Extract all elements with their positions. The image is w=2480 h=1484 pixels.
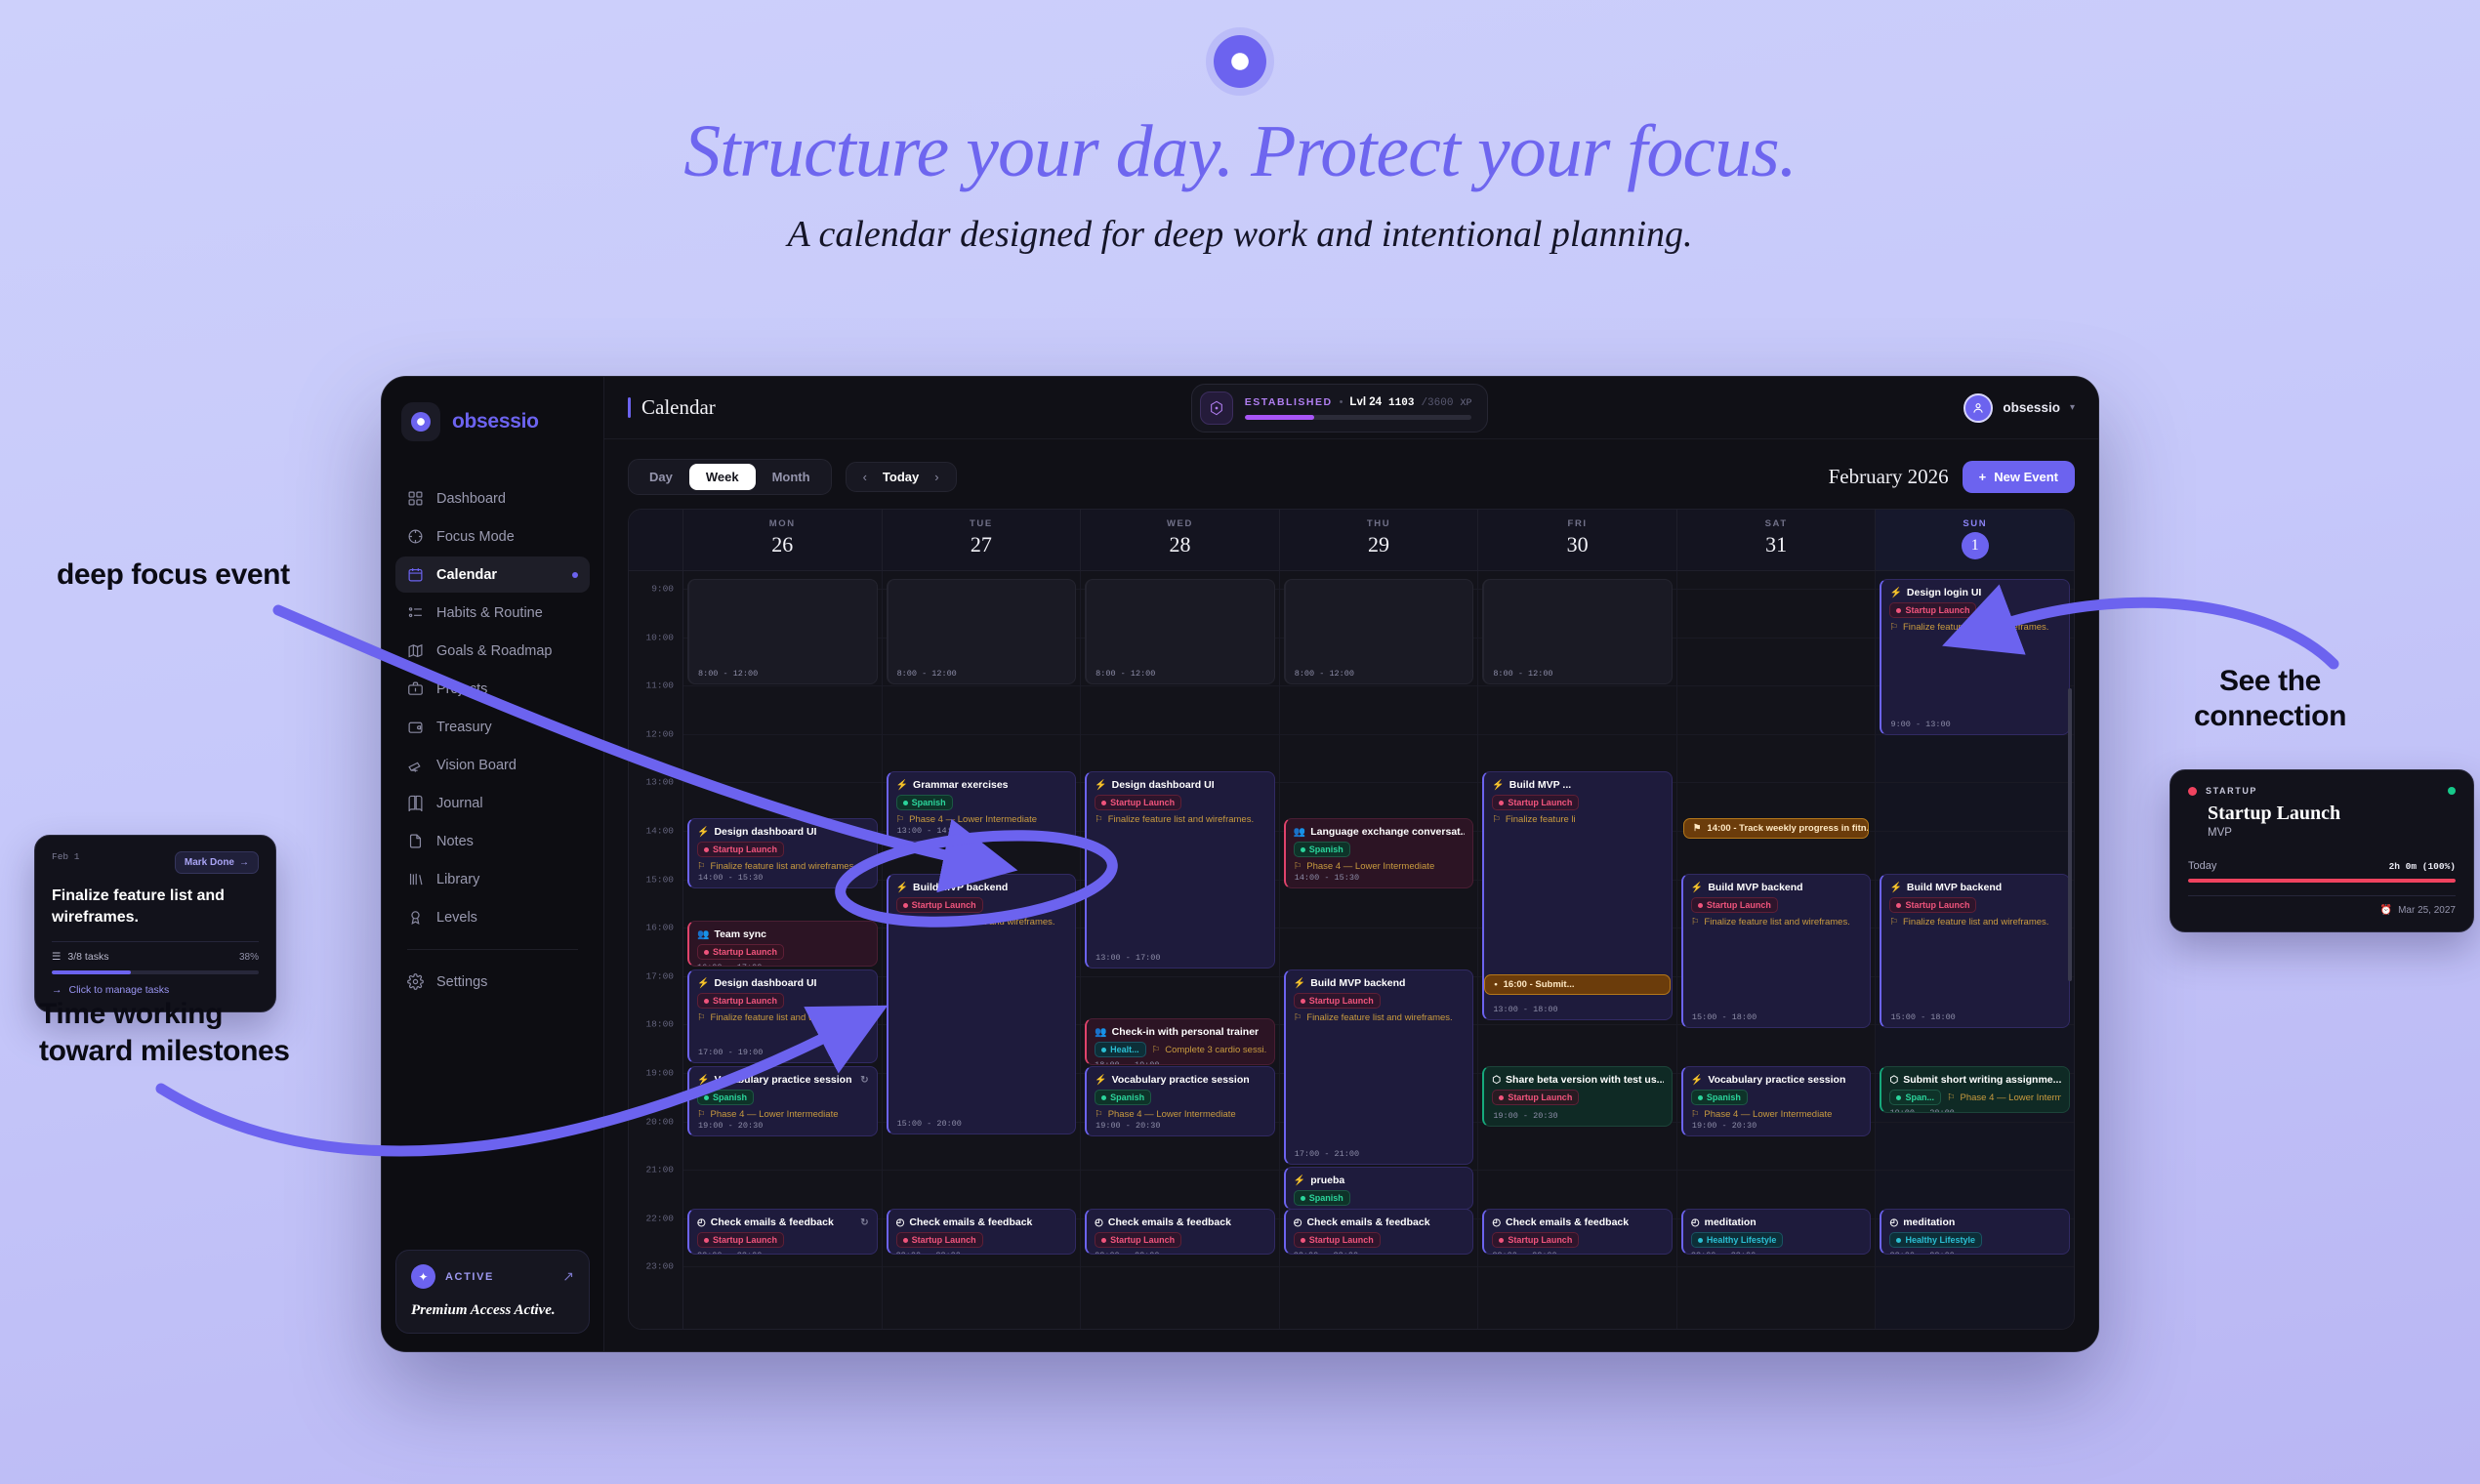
flag-icon: ⚐ (1294, 1012, 1302, 1023)
bolt-icon: ⚡ (1095, 1075, 1106, 1086)
event-title-row: ⚡Build MVP backend (1294, 977, 1466, 989)
calendar-event[interactable]: 8:00 - 12:00 (687, 579, 878, 684)
clock-icon: ⏰ (2380, 905, 2392, 916)
category-label: Startup Launch (1905, 900, 1969, 910)
file-icon (407, 833, 424, 849)
xp-level: Lvl 24 (1349, 396, 1382, 408)
hour-label: 11:00 (645, 680, 674, 691)
hour-label: 19:00 (645, 1068, 674, 1079)
medal-icon (407, 909, 424, 926)
hour-gridline (1677, 782, 1876, 783)
prev-week-button[interactable]: ‹ (863, 470, 867, 484)
chevron-down-icon[interactable]: ▾ (2070, 402, 2075, 413)
event-time: 22:00 - 23:00 (1492, 1251, 1664, 1255)
sidebar-item-label: Library (436, 872, 479, 887)
event-note-text: Finalize feature list and wireframes. (1306, 1012, 1452, 1023)
premium-status: ACTIVE (445, 1271, 494, 1283)
task-pill-icon: • (1494, 979, 1497, 990)
calendar-event[interactable]: ◴Check emails & feedback↻Startup Launch2… (687, 1209, 878, 1255)
page-title: Calendar (641, 395, 716, 420)
calendar-header-row: MON26TUE27WED28THU29FRI30SAT31SUN1 (629, 510, 2074, 571)
sidebar-item-label: Treasury (436, 720, 492, 735)
event-category-chip: Startup Launch (1492, 795, 1579, 810)
flag-icon: ⚐ (1095, 1109, 1103, 1120)
calendar-toolbar: DayWeekMonth ‹ Today › February 2026 + N… (604, 439, 2098, 509)
day-column-fri[interactable]: 8:00 - 12:00⚡Build MVP ...Startup Launch… (1478, 571, 1677, 1329)
day-header-thu[interactable]: THU29 (1280, 510, 1479, 570)
category-label: Healthy Lifestyle (1905, 1235, 1975, 1245)
event-note-text: Finalize feature list and wireframes. (1903, 622, 2048, 633)
view-day-button[interactable]: Day (633, 464, 689, 490)
xp-progress-card[interactable]: ESTABLISHED • Lvl 24 1103 /3600 XP (1191, 384, 1489, 433)
event-time: 22:00 - 23:00 (896, 1251, 1068, 1255)
event-note: ⚐Complete 3 cardio sessi... (1152, 1045, 1266, 1055)
mark-done-label: Mark Done (185, 857, 234, 868)
goal-color-dot (2188, 787, 2197, 796)
day-header-tue[interactable]: TUE27 (883, 510, 1082, 570)
calendar-event[interactable]: ⚡Build MVP backendStartup Launch⚐Finaliz… (1681, 874, 1872, 1028)
day-number: 27 (883, 532, 1081, 557)
category-dot (1499, 1095, 1504, 1100)
active-indicator-dot (572, 572, 578, 578)
hour-gridline (883, 685, 1081, 686)
sidebar-item-levels[interactable]: Levels (395, 899, 590, 935)
page-title-group: Calendar (628, 395, 716, 420)
flag-icon: ⚐ (1889, 917, 1898, 927)
hour-gridline (1081, 1170, 1279, 1171)
arrow-right-icon: → (239, 857, 249, 868)
goal-divider (2188, 895, 2456, 896)
clock-icon: ◴ (1691, 1217, 1700, 1228)
external-link-icon[interactable]: ↗ (562, 1268, 574, 1285)
vertical-scrollbar[interactable] (2068, 688, 2072, 981)
category-dot (704, 1095, 709, 1100)
hour-label: 13:00 (645, 777, 674, 788)
event-title: Design dashboard UI (714, 826, 816, 838)
calendar-event[interactable]: ◴Check emails & feedbackStartup Launch22… (1284, 1209, 1474, 1255)
hour-gridline (1876, 1170, 2074, 1171)
hour-label: 15:00 (645, 874, 674, 885)
calendar-event[interactable]: 8:00 - 12:00 (1085, 579, 1275, 684)
event-time: 13:00 - 14:30 (897, 826, 962, 836)
event-title-row: ⚡Vocabulary practice session (1691, 1074, 1863, 1086)
bolt-icon: ⚡ (896, 883, 908, 893)
view-month-button[interactable]: Month (756, 464, 827, 490)
hour-gridline (1280, 1266, 1478, 1267)
day-header-sun[interactable]: SUN1 (1876, 510, 2074, 570)
calendar-event[interactable]: ⬡Share beta version with test us...Start… (1482, 1066, 1673, 1127)
event-title-row: ◴Check emails & feedback (1095, 1216, 1266, 1228)
clock-icon: ◴ (1492, 1217, 1501, 1228)
event-title: Check emails & feedback (711, 1216, 834, 1228)
category-label: Startup Launch (713, 947, 777, 957)
goal-tag: STARTUP (2206, 786, 2257, 796)
annotation-milestones: Time working toward milestones (39, 996, 290, 1069)
event-note: ⚐Finalize feature list and wireframes. (1889, 622, 2061, 633)
annotation-connection: See the connection (2194, 664, 2346, 734)
sidebar-item-calendar[interactable]: Calendar (395, 556, 590, 593)
goal-detail-card[interactable]: STARTUP Startup Launch MVP Today 2h 0m (… (2170, 769, 2474, 932)
brand-name: obsessio (452, 410, 539, 433)
calendar-event[interactable]: ◴meditationHealthy Lifestyle22:00 - 23:0… (1880, 1209, 2070, 1255)
flag-icon: ⚐ (697, 861, 706, 872)
event-note: ⚐Finalize feature list and wireframes. (1294, 1012, 1466, 1023)
book-icon (407, 795, 424, 811)
day-of-week: WED (1081, 518, 1279, 529)
people-icon: 👥 (1294, 827, 1305, 838)
sidebar-item-habits-routine[interactable]: Habits & Routine (395, 595, 590, 631)
annotation-deep-focus: deep focus event (57, 558, 290, 592)
hour-gridline (1677, 685, 1876, 686)
calendar-event[interactable]: ⚡Grammar exercisesSpanish⚐Phase 4 — Lowe… (887, 771, 1077, 842)
goal-title: Startup Launch (2208, 803, 2456, 825)
hour-gridline (1478, 734, 1676, 735)
hour-label: 20:00 (645, 1116, 674, 1127)
hour-gridline (1677, 638, 1876, 639)
hour-label: 23:00 (645, 1261, 674, 1272)
bolt-icon: ⚡ (697, 827, 709, 838)
day-of-week: SUN (1876, 518, 2074, 529)
calendar-event[interactable]: ⚡Design login UIStartup Launch⚐Finalize … (1880, 579, 2070, 735)
event-title-row: ◴Check emails & feedback (1492, 1216, 1664, 1228)
event-time: 19:00 - 20:30 (1493, 1111, 1557, 1121)
event-note: ⚐Phase 4 — Lower Intermediate (1095, 1109, 1266, 1120)
sidebar-item-focus-mode[interactable]: Focus Mode (395, 518, 590, 555)
event-time: 8:00 - 12:00 (1095, 669, 1155, 679)
category-label: Startup Launch (1309, 996, 1374, 1006)
calendar-event[interactable]: ⚡Vocabulary practice session↻Spanish⚐Pha… (687, 1066, 878, 1136)
event-title: Vocabulary practice session (714, 1074, 851, 1086)
day-column-sun[interactable]: ⚡Design login UIStartup Launch⚐Finalize … (1876, 571, 2074, 1329)
plus-icon: + (1979, 470, 1987, 484)
calendar-event[interactable]: ◴Check emails & feedbackStartup Launch22… (887, 1209, 1077, 1255)
category-dot (1896, 1238, 1901, 1243)
event-note: ⚐Phase 4 — Lower Interm... (1947, 1092, 2061, 1103)
goal-due-date: Mar 25, 2027 (2398, 905, 2456, 916)
calendar-event[interactable]: ⚡Design dashboard UIStartup Launch⚐Final… (687, 818, 878, 888)
event-note-text: Phase 4 — Lower Intermediate (1108, 1109, 1236, 1120)
hour-gridline (683, 734, 882, 735)
event-note: ⚐Phase 4 — Lower Intermediate (1691, 1109, 1863, 1120)
event-title: Build MVP backend (913, 882, 1008, 893)
event-category-chip: Startup Launch (1294, 1232, 1381, 1248)
event-time: 18:00 - 19:00 (1095, 1060, 1266, 1065)
event-note: ⚐Finalize feature list and wireframes. (896, 917, 1068, 927)
event-category-chip: Startup Launch (1492, 1232, 1579, 1248)
event-category-chip: Startup Launch (1294, 993, 1381, 1009)
event-category-chip: Startup Launch (896, 897, 983, 913)
event-category-chip: Startup Launch (697, 993, 784, 1009)
event-note-text: Finalize feature list and wireframes. (711, 861, 856, 872)
event-note-text: Phase 4 — Lower Interm... (1961, 1092, 2062, 1103)
category-label: Startup Launch (713, 1235, 777, 1245)
category-label: Spanish (1110, 1092, 1144, 1102)
hour-gridline (1876, 1122, 2074, 1123)
sidebar-item-library[interactable]: Library (395, 861, 590, 897)
category-label: Startup Launch (1707, 900, 1771, 910)
day-column-wed[interactable]: 8:00 - 12:00⚡Design dashboard UIStartup … (1081, 571, 1280, 1329)
calendar-icon (407, 566, 424, 583)
telescope-icon (407, 757, 424, 773)
category-dot (1698, 1238, 1703, 1243)
checklist-icon: ☰ (52, 951, 61, 963)
event-title-row: ⚡Design login UI (1889, 587, 2061, 598)
event-time: 22:00 - 23:00 (697, 1251, 869, 1255)
sidebar-item-label: Projects (436, 681, 487, 697)
category-label: Startup Launch (713, 845, 777, 854)
day-column-thu[interactable]: 8:00 - 12:00👥Language exchange conversat… (1280, 571, 1479, 1329)
day-number: 29 (1280, 532, 1478, 557)
event-time: 8:00 - 12:00 (1295, 669, 1354, 679)
xp-current: 1103 (1388, 397, 1414, 409)
calendar-event[interactable]: ◴Check emails & feedbackStartup Launch22… (1085, 1209, 1275, 1255)
app-window: obsessio DashboardFocus ModeCalendarHabi… (381, 376, 2099, 1352)
bolt-icon: ⚡ (1691, 1075, 1703, 1086)
event-note: ⚐Finalize feature list and wireframes. (1095, 814, 1266, 825)
sidebar-item-journal[interactable]: Journal (395, 785, 590, 821)
premium-card[interactable]: ✦ ACTIVE ↗ Premium Access Active. (395, 1250, 590, 1334)
bolt-icon: ⚡ (1691, 883, 1703, 893)
category-label: Spanish (1707, 1092, 1741, 1102)
manage-tasks-label: Click to manage tasks (69, 984, 170, 996)
category-dot (1896, 608, 1901, 613)
title-accent-bar (628, 397, 631, 418)
hour-label: 12:00 (645, 728, 674, 739)
calendar-event[interactable]: ⚡Build MVP backendStartup Launch⚐Finaliz… (887, 874, 1077, 1134)
task-pill[interactable]: •16:00 - Submit... (1484, 974, 1671, 995)
time-gutter: 9:0010:0011:0012:0013:0014:0015:0016:001… (629, 571, 683, 1329)
day-of-week: THU (1280, 518, 1478, 529)
xp-unit: XP (1460, 398, 1471, 409)
day-header-fri[interactable]: FRI30 (1478, 510, 1677, 570)
calendar-event[interactable]: 👥Check-in with personal trainerHealt...⚐… (1085, 1018, 1275, 1065)
calendar-event[interactable]: ◴meditationHealthy Lifestyle22:00 - 23:0… (1681, 1209, 1872, 1255)
sidebar-item-notes[interactable]: Notes (395, 823, 590, 859)
event-title-row: ⚡Design dashboard UI (697, 977, 869, 989)
people-icon: 👥 (697, 929, 709, 940)
calendar-event[interactable]: ⬡Submit short writing assignme...Span...… (1880, 1066, 2070, 1113)
hour-gridline (1876, 782, 2074, 783)
event-title: Design login UI (1907, 587, 1981, 598)
event-time: 15:00 - 20:00 (897, 1119, 962, 1129)
hour-label: 16:00 (645, 923, 674, 933)
task-percent: 38% (239, 952, 259, 963)
bolt-icon: ⚡ (896, 780, 908, 791)
hour-gridline (1677, 1170, 1876, 1171)
day-header-sat[interactable]: SAT31 (1677, 510, 1877, 570)
task-pill[interactable]: ⚑14:00 - Track weekly progress in fitn..… (1683, 818, 1870, 839)
event-title-row: ◴meditation (1889, 1216, 2061, 1228)
category-dot (1896, 1095, 1901, 1100)
calendar-event[interactable]: 👥Team syncStartup Launch16:00 - 17:00 (687, 921, 878, 967)
goal-today-label: Today (2188, 860, 2216, 872)
calendar-event[interactable]: ⚡Build MVP backendStartup Launch⚐Finaliz… (1880, 874, 2070, 1028)
task-detail-card[interactable]: Feb 1 Mark Done → Finalize feature list … (34, 835, 276, 1012)
next-week-button[interactable]: › (934, 470, 938, 484)
event-note: ⚐Finalize feature list and wireframes. (1889, 917, 2061, 927)
event-category-chip: Startup Launch (1889, 602, 1976, 618)
category-label: Startup Launch (1309, 1235, 1374, 1245)
category-label: Startup Launch (713, 996, 777, 1006)
event-title-row: 👥Check-in with personal trainer (1095, 1026, 1266, 1038)
day-column-mon[interactable]: 8:00 - 12:00⚡Design dashboard UIStartup … (683, 571, 883, 1329)
xp-max: /3600 (1421, 397, 1453, 409)
event-title-row: ⚡Design dashboard UI (697, 826, 869, 838)
event-time: 13:00 - 17:00 (1095, 953, 1160, 963)
calendar-event[interactable]: ⚡Design dashboard UIStartup Launch⚐Final… (687, 969, 878, 1063)
day-column-tue[interactable]: 8:00 - 12:00⚡Grammar exercisesSpanish⚐Ph… (883, 571, 1082, 1329)
hour-label: 17:00 (645, 970, 674, 981)
event-title: Check emails & feedback (1506, 1216, 1629, 1228)
day-of-week: SAT (1677, 518, 1876, 529)
view-week-button[interactable]: Week (689, 464, 756, 490)
time-gutter-header (629, 510, 683, 570)
event-title: prueba (1310, 1175, 1344, 1186)
user-name: obsessio (2003, 400, 2060, 415)
category-dot (903, 903, 908, 908)
task-pill-label: 16:00 - Submit... (1504, 979, 1575, 990)
event-title-row: ◴Check emails & feedback (896, 1216, 1068, 1228)
category-dot (704, 950, 709, 955)
hour-gridline (683, 1266, 882, 1267)
flag-icon: ⚐ (697, 1109, 706, 1120)
calendar-event[interactable]: ⚡Design dashboard UIStartup Launch⚐Final… (1085, 771, 1275, 969)
hour-gridline (1478, 1266, 1676, 1267)
hour-label: 21:00 (645, 1165, 674, 1175)
calendar-event[interactable]: 👥Language exchange conversat...Spanish⚐P… (1284, 818, 1474, 888)
event-time: 14:00 - 15:30 (1295, 873, 1359, 883)
event-note-text: Complete 3 cardio sessi... (1165, 1045, 1266, 1055)
mark-done-button[interactable]: Mark Done → (175, 851, 259, 874)
grid-icon (407, 490, 424, 507)
hour-label: 9:00 (651, 584, 674, 595)
hour-gridline (683, 782, 882, 783)
calendar-event[interactable]: ◴Check emails & feedbackStartup Launch22… (1482, 1209, 1673, 1255)
calendar-event[interactable]: 8:00 - 12:00 (887, 579, 1077, 684)
category-dot (1499, 1238, 1504, 1243)
hour-gridline (683, 1170, 882, 1171)
sidebar-item-label: Habits & Routine (436, 605, 543, 621)
day-number: 31 (1677, 532, 1876, 557)
task-divider (52, 941, 259, 942)
category-dot (1101, 1048, 1106, 1052)
event-title-row: ⚡Design dashboard UI (1095, 779, 1266, 791)
cube-icon: ⬡ (1492, 1075, 1501, 1086)
event-note-text: Finalize feature list and wireframes. (1108, 814, 1254, 825)
event-category-chip: Spanish (896, 795, 953, 810)
event-title: Share beta version with test us... (1506, 1074, 1664, 1086)
event-note-text: Phase 4 — Lower Intermediate (1704, 1109, 1832, 1120)
bolt-icon: ⚡ (1294, 1175, 1305, 1186)
category-dot (1101, 801, 1106, 805)
hour-gridline (883, 1266, 1081, 1267)
category-dot (1101, 1095, 1106, 1100)
event-time: 17:00 - 19:00 (698, 1048, 763, 1057)
event-category-chip: Startup Launch (697, 842, 784, 857)
category-label: Startup Launch (912, 1235, 976, 1245)
day-number: 30 (1478, 532, 1676, 557)
calendar-event[interactable]: 8:00 - 12:00 (1482, 579, 1673, 684)
flag-icon: ⚐ (697, 1012, 706, 1023)
event-title-row: ⚡Vocabulary practice session (1095, 1074, 1266, 1086)
event-note-text: Phase 4 — Lower Intermediate (1306, 861, 1434, 872)
event-title: Check emails & feedback (909, 1216, 1032, 1228)
new-event-button[interactable]: + New Event (1963, 461, 2075, 493)
manage-tasks-link[interactable]: → Click to manage tasks (52, 984, 259, 996)
event-category-chip: Startup Launch (1095, 795, 1181, 810)
hour-gridline (683, 685, 882, 686)
task-count: 3/8 tasks (67, 951, 108, 963)
clock-icon: ◴ (1889, 1217, 1898, 1228)
sidebar-item-projects[interactable]: Projects (395, 671, 590, 707)
avatar (1963, 393, 1993, 423)
repeat-icon: ↻ (860, 1217, 868, 1228)
event-category-chip: Healthy Lifestyle (1691, 1232, 1784, 1248)
calendar-event[interactable]: ⚡pruebaSpanish21:00 - 22:00 (1284, 1167, 1474, 1210)
rank-badge-icon (1200, 392, 1233, 425)
event-title: Grammar exercises (913, 779, 1009, 791)
sidebar-item-vision-board[interactable]: Vision Board (395, 747, 590, 783)
event-note-text: Finalize feature list and wireframes. (1903, 917, 2048, 927)
hour-gridline (1081, 976, 1279, 977)
day-column-sat[interactable]: ⚡Build MVP backendStartup Launch⚐Finaliz… (1677, 571, 1877, 1329)
gear-icon (407, 973, 424, 990)
event-title: Build MVP backend (1708, 882, 1802, 893)
event-time: 19:00 - 20:00 (1889, 1108, 2061, 1113)
hour-gridline (1876, 831, 2074, 832)
category-dot (1301, 1196, 1305, 1201)
day-columns: 8:00 - 12:00⚡Design dashboard UIStartup … (683, 571, 2074, 1329)
sidebar-item-goals-roadmap[interactable]: Goals & Roadmap (395, 633, 590, 669)
day-header-mon[interactable]: MON26 (683, 510, 883, 570)
brand-mark-icon (401, 402, 440, 441)
goal-status-dot (2448, 787, 2456, 795)
user-menu[interactable]: obsessio ▾ (1963, 393, 2075, 423)
event-time: 22:00 - 23:00 (1889, 1251, 2061, 1255)
calendar-event[interactable]: ⚡Vocabulary practice sessionSpanish⚐Phas… (1085, 1066, 1275, 1136)
sidebar-brand[interactable]: obsessio (395, 398, 590, 441)
category-dot (1101, 1238, 1106, 1243)
sidebar-item-label: Notes (436, 834, 474, 849)
sidebar-divider (407, 949, 578, 950)
day-header-wed[interactable]: WED28 (1081, 510, 1280, 570)
sidebar-item-settings[interactable]: Settings (395, 964, 590, 1000)
briefcase-icon (407, 680, 424, 697)
hour-gridline (1478, 1024, 1676, 1025)
flag-icon: ⚐ (1492, 814, 1501, 825)
calendar-event[interactable]: ⚡Vocabulary practice sessionSpanish⚐Phas… (1681, 1066, 1872, 1136)
calendar-event[interactable]: ⚡Build MVP backendStartup Launch⚐Finaliz… (1284, 969, 1474, 1165)
target-icon (407, 528, 424, 545)
category-dot (704, 1238, 709, 1243)
sidebar-item-treasury[interactable]: Treasury (395, 709, 590, 745)
hour-label: 22:00 (645, 1213, 674, 1223)
flag-icon: ⚐ (1152, 1045, 1161, 1055)
flag-icon: ⚐ (1691, 917, 1700, 927)
category-dot (1698, 1095, 1703, 1100)
sidebar-item-dashboard[interactable]: Dashboard (395, 480, 590, 516)
calendar-event[interactable]: 8:00 - 12:00 (1284, 579, 1474, 684)
sidebar-item-label: Levels (436, 910, 477, 926)
sidebar-item-label: Calendar (436, 567, 497, 583)
event-title-row: ⚡Build MVP backend (896, 882, 1068, 893)
event-category-chip: Healthy Lifestyle (1889, 1232, 1982, 1248)
event-title: meditation (1705, 1216, 1757, 1228)
bolt-icon: ⚡ (697, 1075, 709, 1086)
today-button[interactable]: Today (883, 470, 919, 484)
category-dot (704, 847, 709, 852)
hour-gridline (1677, 1266, 1876, 1267)
